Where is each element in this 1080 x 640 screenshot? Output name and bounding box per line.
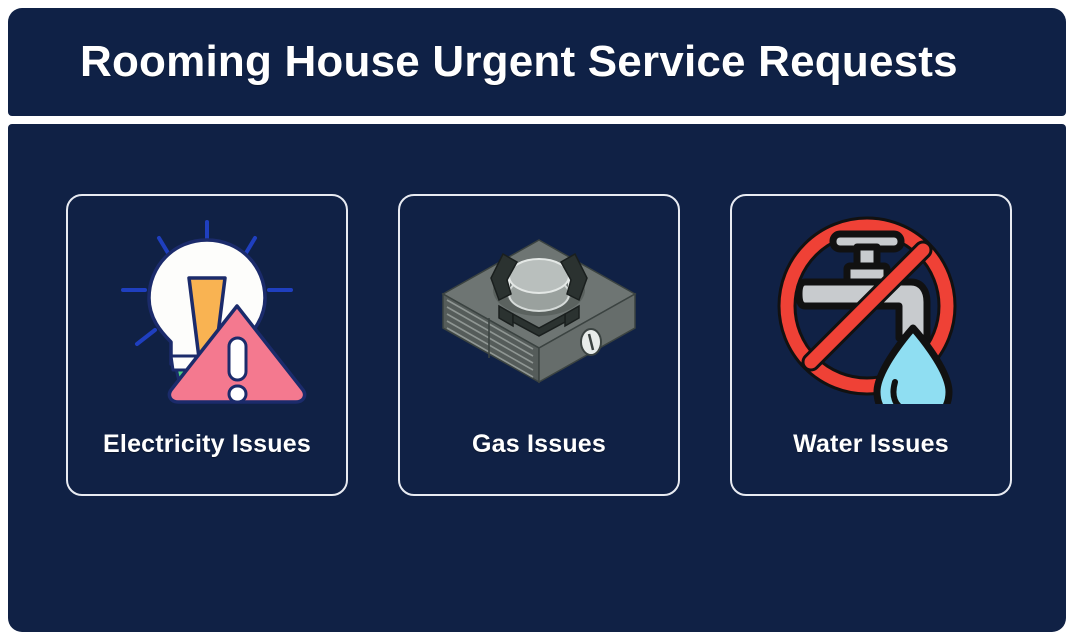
card-label-electricity: Electricity Issues <box>68 430 346 459</box>
poster-root: Rooming House Urgent Service Requests <box>0 0 1080 640</box>
lightbulb-warning-icon <box>97 214 317 404</box>
card-electricity-issues[interactable]: Electricity Issues <box>66 194 348 496</box>
gas-stove-icon <box>429 214 649 404</box>
cards-row: Electricity Issues <box>66 194 1012 496</box>
card-gas-issues[interactable]: Gas Issues <box>398 194 680 496</box>
header-bar: Rooming House Urgent Service Requests <box>8 8 1066 116</box>
card-water-issues[interactable]: Water Issues <box>730 194 1012 496</box>
card-label-gas: Gas Issues <box>400 430 678 459</box>
card-label-water: Water Issues <box>732 430 1010 459</box>
no-water-faucet-icon <box>761 214 981 404</box>
body-panel: Electricity Issues <box>8 124 1066 632</box>
page-title: Rooming House Urgent Service Requests <box>8 37 958 87</box>
